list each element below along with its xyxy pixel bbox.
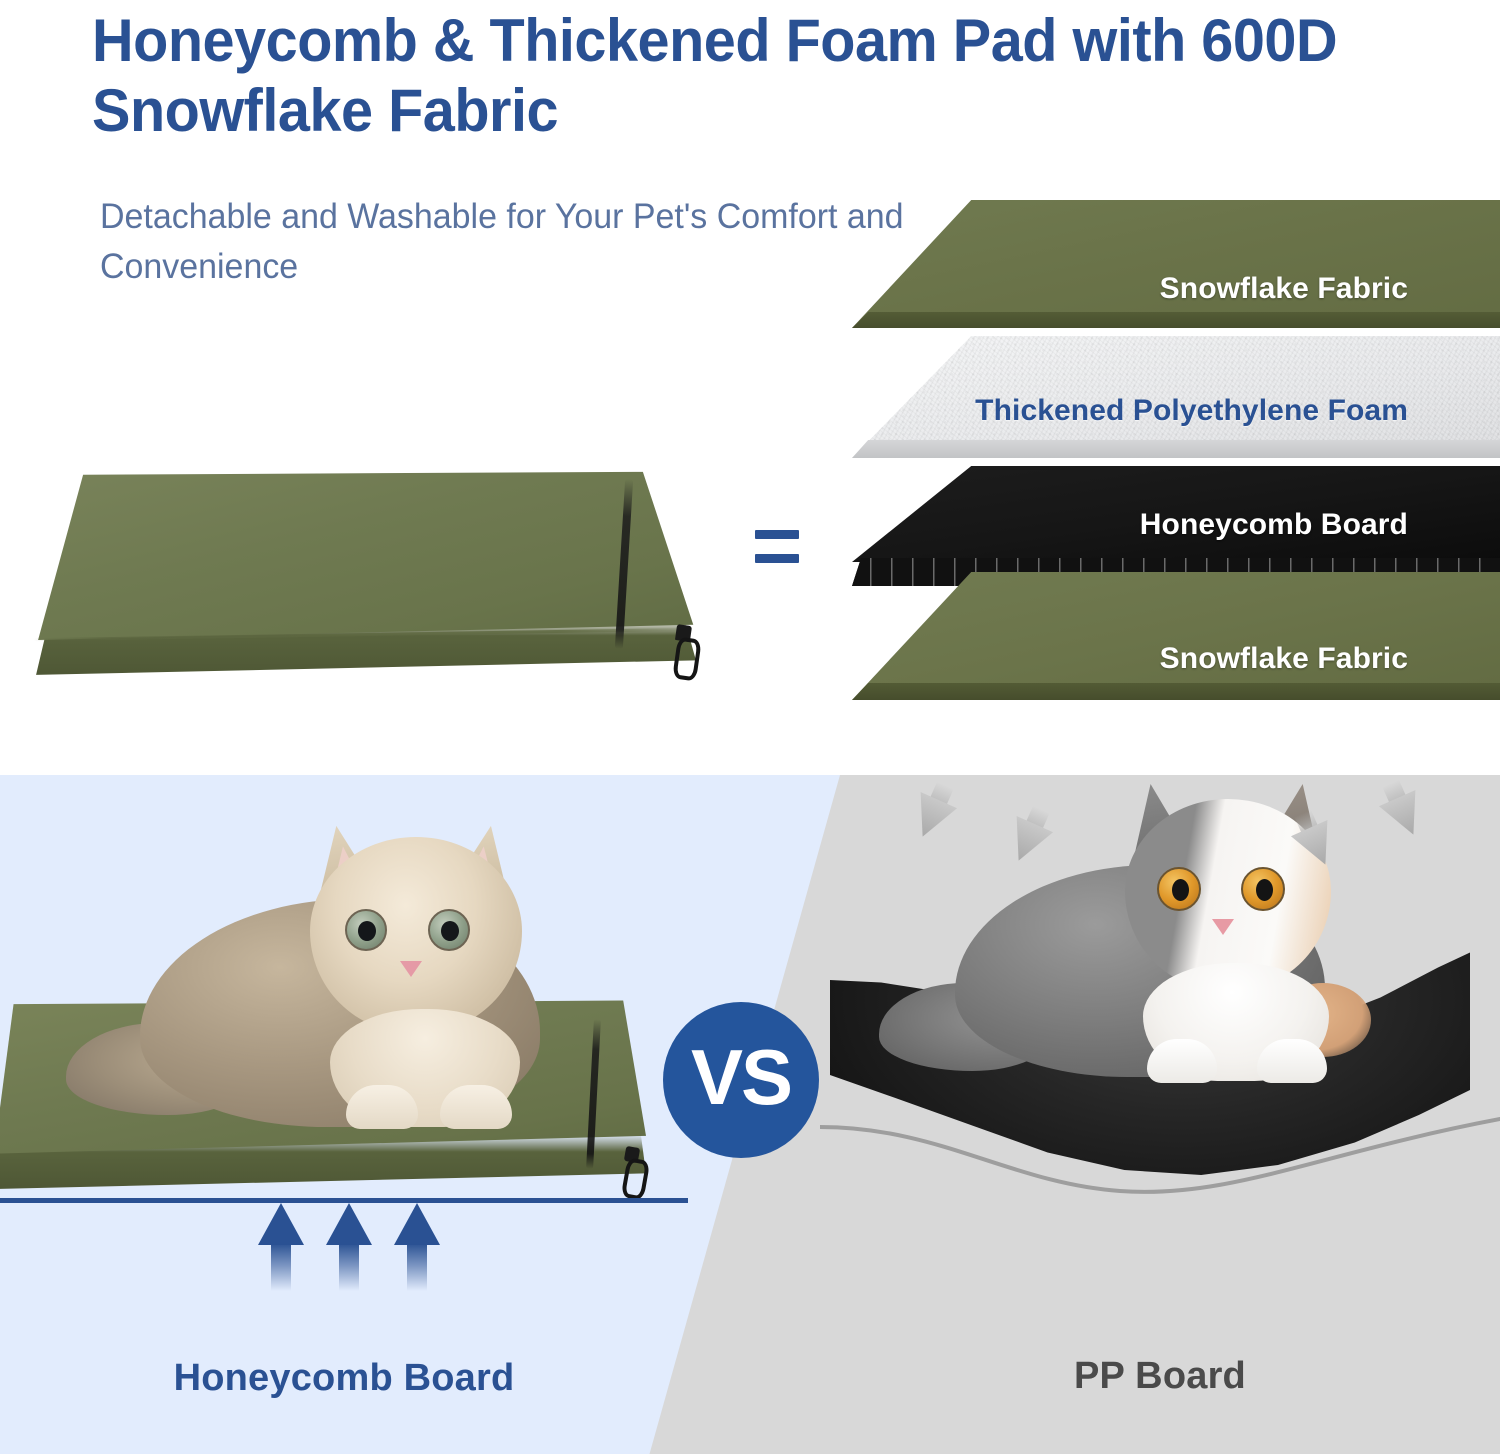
sag-curve-svg (820, 1105, 1500, 1225)
layer-edge (852, 683, 1500, 700)
layer-slab (852, 200, 1500, 328)
pressure-arrows-down (820, 775, 1500, 905)
product-pad-illustration (20, 455, 720, 705)
product-infographic: Honeycomb & Thickened Foam Pad with 600D… (0, 0, 1500, 1454)
layer-label-honeycomb-board: Honeycomb Board (1140, 508, 1408, 542)
arrow-down-icon (904, 777, 963, 844)
vs-label: VS (691, 1038, 791, 1116)
arrow-head (326, 1203, 372, 1245)
cat-paw-right (440, 1085, 512, 1129)
layer-surface (852, 572, 1500, 700)
cat-head (310, 837, 522, 1033)
layer-honeycomb-board: Honeycomb Board (852, 466, 1500, 586)
label-pp-board: PP Board (820, 1355, 1500, 1398)
arrow-up-icon (326, 1203, 372, 1289)
label-honeycomb-board: Honeycomb Board (0, 1357, 688, 1400)
cat-eye-left (345, 909, 387, 951)
cat-paw-left (1147, 1039, 1217, 1083)
support-arrows-up (258, 1203, 458, 1293)
arrow-head (904, 792, 957, 845)
equals-bar-bottom (755, 554, 799, 563)
cat-paw-left (346, 1085, 418, 1129)
layer-snowflake-fabric-bottom: Snowflake Fabric (852, 572, 1500, 700)
cat-golden-illustration (60, 827, 640, 1147)
top-section: Honeycomb & Thickened Foam Pad with 600D… (0, 0, 1500, 775)
vs-badge: VS (663, 1002, 819, 1158)
layer-edge (852, 312, 1500, 328)
sag-curve-path (820, 1119, 1500, 1192)
layer-snowflake-fabric-top: Snowflake Fabric (852, 200, 1500, 328)
layer-stack-diagram: Snowflake Fabric Thickened Polyethylene … (852, 200, 1500, 690)
arrow-tail (271, 1243, 291, 1291)
arrow-tail (407, 1243, 427, 1291)
page-subtitle: Detachable and Washable for Your Pet's C… (100, 192, 934, 291)
arrow-up-icon (258, 1203, 304, 1289)
arrow-down-icon (1284, 805, 1343, 872)
layer-label-snowflake-fabric-top: Snowflake Fabric (1160, 272, 1408, 306)
equals-sign-icon (755, 530, 799, 564)
layer-polyethylene-foam: Thickened Polyethylene Foam (852, 336, 1500, 458)
cat-paw-right (1257, 1039, 1327, 1083)
sagging-surface-curve (820, 1105, 1500, 1225)
comparison-panel-pp-board (820, 775, 1500, 1454)
layer-edge (852, 440, 1500, 458)
arrow-up-icon (394, 1203, 440, 1289)
page-title: Honeycomb & Thickened Foam Pad with 600D… (92, 6, 1436, 146)
arrow-head (258, 1203, 304, 1245)
arrow-down-icon (1372, 775, 1431, 842)
layer-surface (852, 200, 1500, 328)
arrow-head (1000, 816, 1053, 869)
cat-eye-right (428, 909, 470, 951)
zipper-pull-icon (675, 625, 693, 673)
arrow-head (394, 1203, 440, 1245)
equals-bar-top (755, 530, 799, 539)
layer-label-snowflake-fabric-bottom: Snowflake Fabric (1160, 642, 1408, 676)
arrow-down-icon (1000, 801, 1059, 868)
layer-label-polyethylene-foam: Thickened Polyethylene Foam (975, 394, 1408, 428)
mat-zipper-pull-icon (624, 1147, 642, 1193)
layer-slab (852, 572, 1500, 700)
comparison-panel-honeycomb (0, 775, 700, 1454)
arrow-tail (339, 1243, 359, 1291)
